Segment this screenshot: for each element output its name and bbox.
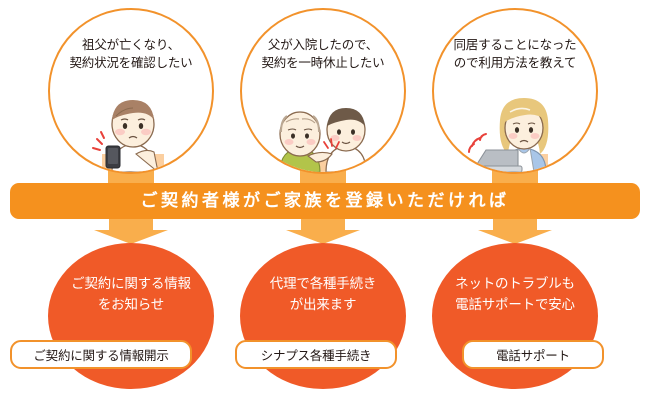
elderly-man-and-son-icon bbox=[242, 86, 404, 172]
result-button-2-label: シナプス各種手続き bbox=[261, 345, 372, 364]
arrow-down-2 bbox=[286, 218, 360, 244]
result-button-1[interactable]: ご契約に関する情報開示 bbox=[10, 340, 192, 369]
woman-at-laptop-icon bbox=[434, 86, 596, 172]
registration-banner: ご契約者様がご家族を登録いただければ bbox=[10, 183, 640, 219]
arrow-down-3 bbox=[478, 218, 552, 244]
result-text-1: ご契約に関する情報 をお知らせ bbox=[48, 273, 214, 315]
result-button-3[interactable]: 電話サポート bbox=[462, 340, 604, 369]
banner-label: ご契約者様がご家族を登録いただければ bbox=[141, 183, 510, 219]
problem-circle-2: 父が入院したので、 契約を一時休止したい bbox=[240, 8, 406, 174]
infographic-canvas: 祖父が亡くなり、 契約状況を確認したい bbox=[0, 0, 650, 400]
problem-circle-3: 同居することになった ので利用方法を教えて bbox=[432, 8, 598, 174]
problem-text-1: 祖父が亡くなり、 契約状況を確認したい bbox=[50, 36, 212, 72]
result-button-3-label: 電話サポート bbox=[496, 345, 570, 364]
problem-text-3: 同居することになった ので利用方法を教えて bbox=[434, 36, 596, 72]
problem-text-2: 父が入院したので、 契約を一時休止したい bbox=[242, 36, 404, 72]
result-text-2: 代理で各種手続き が出来ます bbox=[240, 273, 406, 315]
result-button-2[interactable]: シナプス各種手続き bbox=[235, 340, 397, 369]
worried-man-with-phone-icon bbox=[50, 86, 212, 172]
result-text-3: ネットのトラブルも 電話サポートで安心 bbox=[432, 273, 598, 315]
result-button-1-label: ご契約に関する情報開示 bbox=[33, 345, 168, 364]
problem-circle-1: 祖父が亡くなり、 契約状況を確認したい bbox=[48, 8, 214, 174]
arrow-down-1 bbox=[94, 218, 168, 244]
